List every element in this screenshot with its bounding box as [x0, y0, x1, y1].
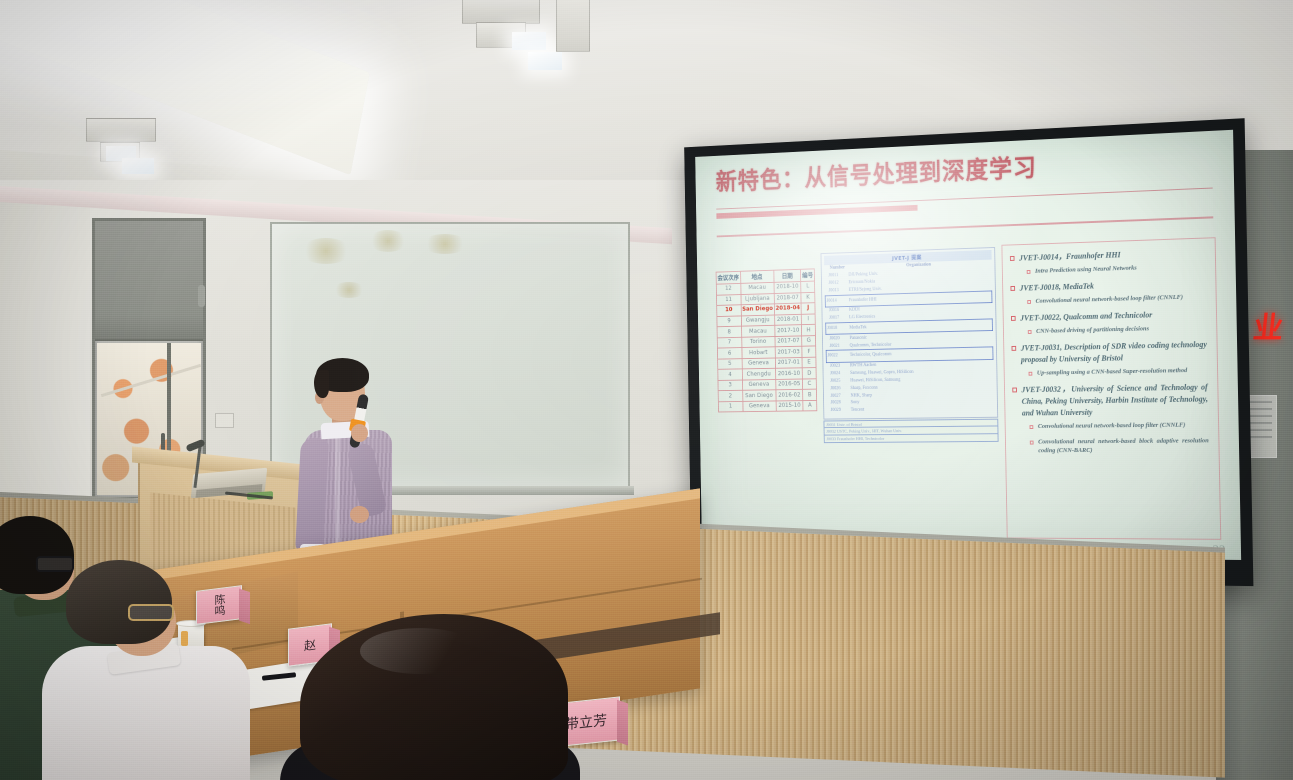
- proposal-number: J0029: [827, 407, 850, 415]
- bullet-level2: Up-sampling using a CNN-based Super-reso…: [1029, 366, 1208, 378]
- proposal-number: J0014: [825, 295, 848, 307]
- meeting-history-table: 会议次序地点日期编号 12Macau2018-10L11Ljubljana201…: [716, 268, 818, 412]
- meeting-table-cell-date: 2018-04: [774, 303, 801, 315]
- meeting-table-cell-code: C: [803, 379, 817, 390]
- meeting-table-cell-code: J: [801, 303, 815, 314]
- meeting-table-cell-date: 2016-10: [775, 368, 802, 379]
- bullet-level2-text: Convolutional neural network-based loop …: [1035, 293, 1183, 306]
- attendee-2-hair: [66, 560, 172, 644]
- meeting-table-cell-order: 12: [716, 283, 740, 294]
- meeting-table-cell-location: San Diego: [742, 390, 776, 401]
- seminar-room-photo: 业 新特色：从信号处理到深度学习: [0, 0, 1293, 780]
- meeting-table-cell-location: Torino: [741, 336, 775, 347]
- meeting-table-cell-order: 2: [718, 391, 742, 402]
- table-body: 12Macau2018-10L11Ljubljana2018-07K10San …: [716, 281, 817, 412]
- slide-body: 会议次序地点日期编号 12Macau2018-10L11Ljubljana201…: [715, 237, 1221, 540]
- meeting-history-table-wrap: 会议次序地点日期编号 12Macau2018-10L11Ljubljana201…: [715, 251, 819, 537]
- meeting-table-cell-order: 6: [717, 348, 741, 359]
- meeting-table-cell-order: 7: [717, 337, 741, 348]
- projected-slide: 新特色：从信号处理到深度学习 会议次序地点日期编号 12Macau2018-10…: [695, 130, 1241, 560]
- meeting-table-cell-date: 2017-03: [775, 346, 802, 357]
- proposal-footnote: J0033 Fraunhofer HHI, Technicolor: [824, 433, 999, 443]
- bullet-level1-text: JVET-J0022, Qualcomm and Technicolor: [1020, 310, 1152, 325]
- bullet-level1: JVET-J0031, Description of SDR video cod…: [1011, 339, 1207, 366]
- meeting-table-cell-date: 2017-10: [775, 325, 802, 336]
- proposal-table-body: NumberOrganizationJ0011DJI/Peking Univ.J…: [825, 260, 994, 415]
- bullet-level1-text: JVET-J0031, Description of SDR video cod…: [1021, 339, 1208, 366]
- meeting-table-cell-location: Chengdu: [742, 369, 776, 380]
- bullet-square-icon: [1010, 256, 1015, 261]
- meeting-table-cell-order: 9: [717, 316, 741, 327]
- bullet-level2: Convolutional neural network-based loop …: [1029, 420, 1208, 431]
- meeting-table-header-2: 日期: [774, 269, 801, 282]
- meeting-table-cell-location: Geneva: [742, 358, 776, 369]
- meeting-table-cell-order: 3: [718, 380, 742, 391]
- meeting-table-cell-code: I: [801, 314, 815, 325]
- bullet-level2-text: Up-sampling using a CNN-based Super-reso…: [1037, 366, 1188, 378]
- bullet-square-icon: [1027, 270, 1031, 274]
- meeting-table-cell-location: Macau: [741, 325, 775, 337]
- meeting-table-cell-date: 2016-02: [776, 390, 803, 401]
- bullet-panel: JVET-J0014，Fraunhofer HHIIntra Predictio…: [1001, 237, 1221, 540]
- bullet-level2: Convolutional neural network-based block…: [1030, 437, 1209, 456]
- bullet-level1: JVET-J0032，University of Science and Tec…: [1012, 382, 1208, 420]
- meeting-table-cell-date: 2018-10: [774, 282, 801, 294]
- bullet-panel-wrap: JVET-J0014，Fraunhofer HHIIntra Predictio…: [1001, 237, 1221, 540]
- presenter-hair-side: [314, 370, 329, 398]
- meeting-table-header-1: 地点: [740, 270, 774, 283]
- meeting-table-cell-date: 2018-07: [774, 292, 801, 304]
- name-tent-3-back: [617, 700, 628, 746]
- meeting-table-cell-date: 2017-07: [775, 336, 802, 347]
- ceiling-troffer-light: [0, 0, 370, 175]
- bullet-level2: Intra Prediction using Neural Networks: [1027, 261, 1206, 276]
- meeting-table-cell-location: Gwangju: [741, 315, 775, 327]
- bullet-square-icon: [1028, 330, 1032, 334]
- proposal-number: J0018: [826, 322, 849, 334]
- meeting-table-cell-code: H: [802, 324, 816, 335]
- meeting-table-cell-code: A: [803, 400, 817, 411]
- proposal-table-header-0: Number: [825, 264, 848, 272]
- meeting-table-cell-order: 11: [716, 294, 740, 305]
- bullet-square-icon: [1030, 441, 1034, 445]
- meeting-table-cell-order: 4: [718, 369, 742, 380]
- wall-socket-plate[interactable]: [215, 413, 234, 428]
- meeting-table-cell-order: 1: [718, 401, 742, 412]
- title-rule-second: [717, 216, 1214, 237]
- proposal-table-footnotes: J0031 Univ. of BristolJ0032 USTC, Peking…: [823, 419, 998, 443]
- presenter-hand-lower: [350, 506, 369, 523]
- meeting-table-cell-code: D: [802, 368, 816, 379]
- bullet-square-icon: [1030, 425, 1034, 429]
- proposal-table-box: JVET-J 提案 NumberOrganizationJ0011DJI/Pek…: [821, 247, 999, 419]
- bullet-square-icon: [1012, 346, 1017, 351]
- bullet-square-icon: [1027, 300, 1031, 304]
- meeting-table-cell-order: 10: [717, 305, 741, 316]
- bullet-level1-text: JVET-J0014，Fraunhofer HHI: [1019, 249, 1121, 264]
- proposal-table: NumberOrganizationJ0011DJI/Peking Univ.J…: [824, 260, 994, 415]
- meeting-table-cell-code: G: [802, 335, 816, 346]
- bullet-level2: Convolutional neural network-based loop …: [1027, 292, 1206, 306]
- meeting-table-cell-order: 8: [717, 326, 741, 337]
- meeting-table-cell-location: Hobart: [742, 347, 776, 358]
- meeting-table-cell-location: Geneva: [742, 379, 776, 390]
- projection-screen: 新特色：从信号处理到深度学习 会议次序地点日期编号 12Macau2018-10…: [684, 118, 1253, 586]
- proposal-organization: Tencent: [850, 405, 994, 414]
- bullet-square-icon: [1012, 388, 1017, 393]
- meeting-table-header-3: 编号: [801, 269, 815, 282]
- meeting-table-cell-code: K: [801, 292, 815, 303]
- meeting-table-cell-location: Geneva: [742, 401, 776, 412]
- blind-bracket: [198, 285, 205, 307]
- meeting-table-row: 1Geneva2015-10A: [718, 400, 816, 412]
- proposal-number: J0022: [826, 350, 849, 362]
- meeting-table-cell-date: 2016-05: [776, 379, 803, 390]
- roller-blind[interactable]: [95, 221, 203, 341]
- meeting-table-cell-code: B: [803, 389, 817, 400]
- bullet-level2-text: Convolutional neural network-based loop …: [1038, 421, 1186, 431]
- meeting-table-header-0: 会议次序: [716, 271, 740, 284]
- bullet-level2: CNN-based driving of partitioning decisi…: [1028, 323, 1207, 336]
- bullet-square-icon: [1029, 372, 1033, 376]
- bullet-level1-text: JVET-J0032，University of Science and Tec…: [1021, 382, 1208, 419]
- meeting-table-cell-order: 5: [718, 358, 742, 369]
- bullet-level1: JVET-J0022, Qualcomm and Technicolor: [1011, 308, 1207, 325]
- bullet-square-icon: [1011, 316, 1016, 321]
- attendee-long-hair: [300, 614, 580, 780]
- meeting-table-cell-date: 2015-10: [776, 400, 803, 411]
- presenter-hand-holding-mic: [351, 424, 368, 442]
- bullet-level2-text: Convolutional neural network-based block…: [1038, 437, 1209, 456]
- bullet-level2-text: CNN-based driving of partitioning decisi…: [1036, 324, 1149, 336]
- proposal-table-row: J0029Tencent: [827, 405, 994, 415]
- bullet-level2-text: Intra Prediction using Neural Networks: [1035, 264, 1137, 276]
- meeting-table-cell-date: 2018-01: [774, 314, 801, 325]
- meeting-table-cell-code: F: [802, 346, 816, 357]
- attendee-3-hair-highlight: [360, 628, 480, 674]
- attendee-white-shirt-glasses: [56, 560, 256, 780]
- bullet-square-icon: [1010, 286, 1015, 291]
- slide-canvas: 新特色：从信号处理到深度学习 会议次序地点日期编号 12Macau2018-10…: [695, 130, 1241, 560]
- meeting-table-cell-code: E: [802, 357, 816, 368]
- projector-red-spill: 业: [1251, 313, 1293, 347]
- proposal-table-wrap: JVET-J 提案 NumberOrganizationJ0011DJI/Pek…: [820, 245, 1000, 538]
- presenter-shirt-placket: [335, 434, 340, 552]
- attendee-2-eyeglasses: [128, 604, 174, 621]
- meeting-table-cell-date: 2017-01: [775, 357, 802, 368]
- bullet-level1-text: JVET-J0018, MediaTek: [1020, 281, 1095, 295]
- slide-title: 新特色：从信号处理到深度学习: [716, 147, 1215, 195]
- meeting-table-cell-code: L: [801, 281, 815, 292]
